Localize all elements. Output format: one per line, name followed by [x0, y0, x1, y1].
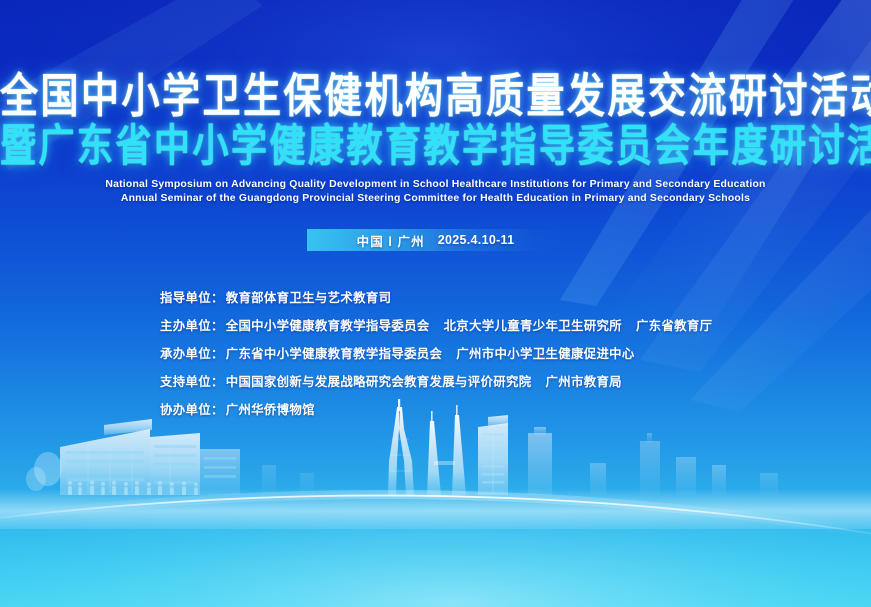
- organization-list: 指导单位：教育部体育卫生与艺术教育司主办单位：全国中小学健康教育教学指导委员会北…: [160, 288, 712, 418]
- event-location: 中国 l 广州: [357, 231, 425, 250]
- organization-role-label: 主办单位：: [160, 316, 224, 334]
- organization-role-label: 协办单位：: [160, 400, 224, 418]
- organization-row: 指导单位：教育部体育卫生与艺术教育司: [160, 288, 712, 306]
- event-meta: 中国 l 广州 2025.4.10-11: [0, 229, 871, 251]
- organization-row: 支持单位：中国国家创新与发展战略研究会教育发展与评价研究院广州市教育局: [160, 372, 712, 390]
- organization-name: 广东省教育厅: [636, 316, 712, 334]
- poster-subtitle: National Symposium on Advancing Quality …: [0, 178, 871, 206]
- organization-names: 广东省中小学健康教育教学指导委员会广州市中小学卫生健康促进中心: [226, 344, 635, 362]
- organization-role-label: 支持单位：: [160, 372, 224, 390]
- organization-name: 中国国家创新与发展战略研究会教育发展与评价研究院: [226, 372, 532, 390]
- organization-row: 承办单位：广东省中小学健康教育教学指导委员会广州市中小学卫生健康促进中心: [160, 344, 712, 362]
- organization-role-label: 指导单位：: [160, 288, 224, 306]
- organization-names: 广州华侨博物馆: [226, 400, 315, 418]
- subtitle-line-2: Annual Seminar of the Guangdong Provinci…: [0, 192, 871, 206]
- organization-name: 教育部体育卫生与艺术教育司: [226, 288, 392, 306]
- organization-name: 广州华侨博物馆: [226, 400, 315, 418]
- event-date: 2025.4.10-11: [438, 233, 515, 247]
- organization-names: 教育部体育卫生与艺术教育司: [226, 288, 392, 306]
- horizon-arc: [0, 457, 871, 607]
- conference-poster: 全国中小学卫生保健机构高质量发展交流研讨活动 暨广东省中小学健康教育教学指导委员…: [0, 0, 871, 607]
- title-line-primary: 全国中小学卫生保健机构高质量发展交流研讨活动: [0, 74, 871, 120]
- background-towers: [262, 433, 778, 495]
- organization-name: 全国中小学健康教育教学指导委员会: [226, 316, 430, 334]
- students-silhouette: [68, 480, 198, 495]
- organization-role-label: 承办单位：: [160, 344, 224, 362]
- school-building: [26, 419, 240, 495]
- organization-row: 主办单位：全国中小学健康教育教学指导委员会北京大学儿童青少年卫生研究所广东省教育…: [160, 316, 712, 334]
- subtitle-line-1: National Symposium on Advancing Quality …: [0, 178, 871, 192]
- organization-names: 全国中小学健康教育教学指导委员会北京大学儿童青少年卫生研究所广东省教育厅: [226, 316, 713, 334]
- location-date-badge: 中国 l 广州 2025.4.10-11: [307, 229, 565, 251]
- office-tower: [478, 415, 508, 495]
- organization-name: 北京大学儿童青少年卫生研究所: [444, 316, 622, 334]
- organization-name: 广州市中小学卫生健康促进中心: [456, 344, 634, 362]
- organization-name: 广州市教育局: [545, 372, 621, 390]
- twin-towers: [427, 405, 466, 495]
- poster-title: 全国中小学卫生保健机构高质量发展交流研讨活动 暨广东省中小学健康教育教学指导委员…: [0, 74, 871, 160]
- ground-haze: [0, 489, 871, 529]
- organization-names: 中国国家创新与发展战略研究会教育发展与评价研究院广州市教育局: [226, 372, 622, 390]
- title-line-secondary: 暨广东省中小学健康教育教学指导委员会年度研讨活动: [0, 124, 871, 168]
- organization-name: 广东省中小学健康教育教学指导委员会: [226, 344, 443, 362]
- organization-row: 协办单位：广州华侨博物馆: [160, 400, 712, 418]
- skyscraper: [528, 427, 552, 495]
